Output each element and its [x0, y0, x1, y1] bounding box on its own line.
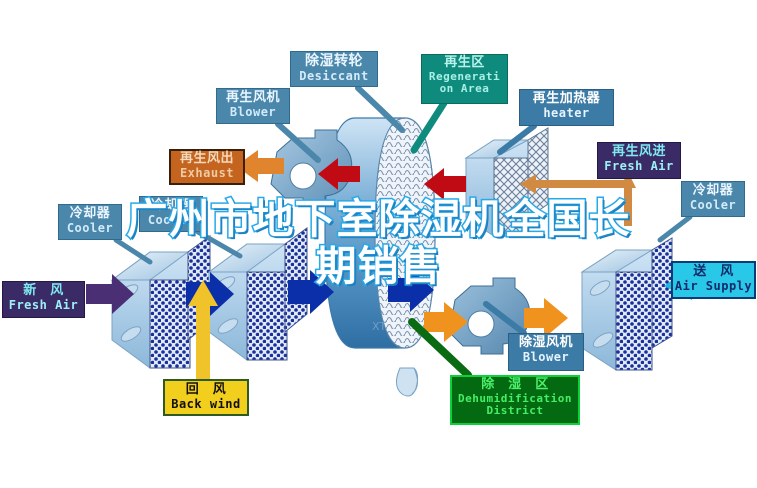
label-dehum-district-en2: District — [452, 405, 578, 417]
label-back-wind-en: Back wind — [165, 398, 247, 411]
label-regeneration-heater-en: heater — [520, 107, 613, 120]
label-air-supply-cn: 送 风 — [673, 265, 754, 280]
label-regeneration-heater-cn: 再生加热器 — [520, 92, 613, 107]
label-cooler-left-1[interactable]: 冷却器 Cooler — [58, 204, 122, 240]
label-regeneration-area[interactable]: 再生区 Regenerati on Area — [421, 54, 508, 104]
label-regeneration-blower-en: Blower — [217, 106, 289, 119]
label-back-wind-cn: 回 风 — [165, 383, 247, 398]
label-cooler-left-2-cn: 冷却器 — [140, 199, 202, 214]
label-fresh-air-cn: 新 风 — [3, 284, 84, 299]
label-regeneration-area-en1: Regenerati — [422, 71, 507, 83]
label-cooler-right-cn: 冷却器 — [682, 184, 744, 199]
label-desiccant-wheel-en: Desiccant — [291, 70, 377, 83]
label-regeneration-heater[interactable]: 再生加热器 heater — [519, 89, 614, 126]
label-desiccant-wheel-cn: 除湿转轮 — [291, 54, 377, 70]
label-fresh-air-in[interactable]: 新 风 Fresh Air — [2, 281, 85, 318]
label-dehumidification-district[interactable]: 除 湿 区 Dehumidification District — [450, 375, 580, 425]
label-fresh-air-en: Fresh Air — [3, 299, 84, 312]
label-desiccant-wheel[interactable]: 除湿转轮 Desiccant — [290, 51, 378, 87]
leader-cooler-right — [660, 217, 690, 240]
label-exhaust-cn: 再生风出 — [171, 152, 243, 167]
label-back-wind[interactable]: 回 风 Back wind — [163, 379, 249, 416]
dehumidifier-schematic-svg: XT — [0, 0, 757, 488]
label-regeneration-blower-cn: 再生风机 — [217, 91, 289, 106]
label-regeneration-fresh-air-in[interactable]: 再生风进 Fresh Air — [597, 142, 681, 179]
label-dehum-blower-cn: 除湿风机 — [509, 336, 583, 351]
rotor-body-mark: XT — [372, 320, 386, 333]
label-dehum-blower-en: Blower — [509, 351, 583, 364]
label-regeneration-blower[interactable]: 再生风机 Blower — [216, 88, 290, 124]
label-regeneration-area-en2: on Area — [422, 83, 507, 95]
label-regen-fresh-air-en: Fresh Air — [598, 160, 680, 173]
label-cooler-left-1-en: Cooler — [59, 222, 121, 235]
label-cooler-right-en: Cooler — [682, 199, 744, 212]
leader-cooler-left-1 — [116, 240, 150, 262]
label-air-supply[interactable]: 送 风 Air Supply — [671, 261, 756, 299]
label-regeneration-area-cn: 再生区 — [422, 56, 507, 71]
label-dehumidification-blower[interactable]: 除湿风机 Blower — [508, 333, 584, 371]
label-dehum-district-cn: 除 湿 区 — [452, 378, 578, 393]
label-dehum-district-en1: Dehumidification — [452, 393, 578, 405]
label-exhaust[interactable]: 再生风出 Exhaust — [169, 149, 245, 185]
label-cooler-right[interactable]: 冷却器 Cooler — [681, 181, 745, 217]
label-cooler-left-2[interactable]: 冷却器 Cooler — [139, 196, 203, 232]
diagram-canvas: XT — [0, 0, 757, 488]
label-cooler-left-2-en: Cooler — [140, 214, 202, 227]
label-air-supply-en: Air Supply — [673, 280, 754, 293]
label-regen-fresh-air-cn: 再生风进 — [598, 145, 680, 160]
dry-air-arrow-2 — [524, 298, 568, 338]
cooler-coil-right — [582, 238, 672, 370]
label-exhaust-en: Exhaust — [171, 167, 243, 180]
label-cooler-left-1-cn: 冷却器 — [59, 207, 121, 222]
